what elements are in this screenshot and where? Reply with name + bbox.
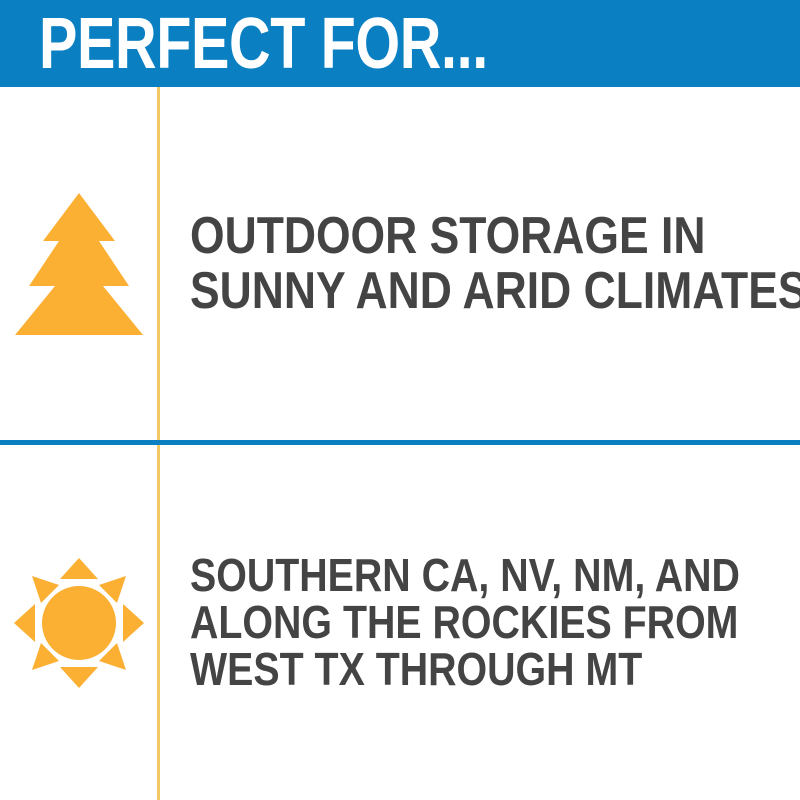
horizontal-divider [0,440,800,445]
text-cell-regions: SOUTHERN CA, NV, NM, AND ALONG THE ROCKI… [157,552,800,693]
perfect-for-infographic: PERFECT FOR... OUTDOOR STORAGE IN SUNNY … [0,0,800,800]
feature-line: SOUTHERN CA, NV, NM, AND [190,552,740,599]
header-bar: PERFECT FOR... [0,0,800,87]
feature-line: SUNNY AND ARID CLIMATES [190,264,800,319]
sun-icon [14,558,144,688]
feature-line: ALONG THE ROCKIES FROM [190,599,740,646]
icon-cell-regions [0,445,157,800]
feature-line: OUTDOOR STORAGE IN [190,209,800,264]
feature-row-outdoor-storage: OUTDOOR STORAGE IN SUNNY AND ARID CLIMAT… [0,87,800,440]
feature-row-regions: SOUTHERN CA, NV, NM, AND ALONG THE ROCKI… [0,445,800,800]
pine-tree-icon [15,193,143,335]
icon-cell-outdoor-storage [0,87,157,440]
page-title: PERFECT FOR... [39,4,488,84]
text-cell-outdoor-storage: OUTDOOR STORAGE IN SUNNY AND ARID CLIMAT… [157,209,800,319]
feature-line: WEST TX THROUGH MT [190,646,740,693]
